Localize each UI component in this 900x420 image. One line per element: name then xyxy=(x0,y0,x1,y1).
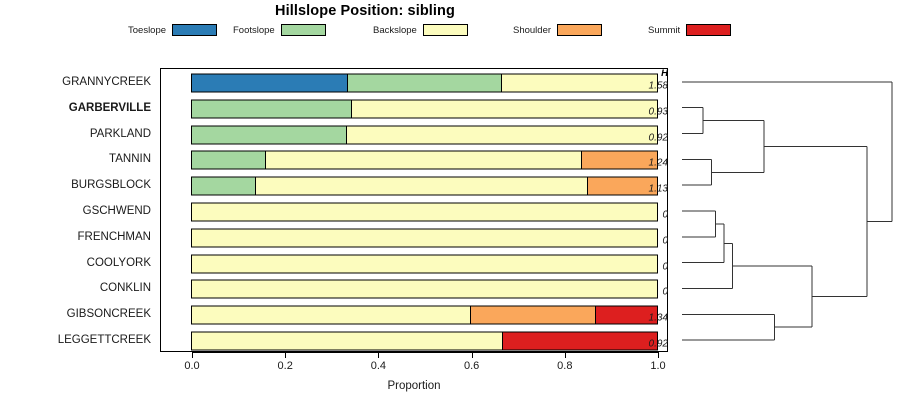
dendrogram xyxy=(670,60,900,360)
h-value-leggettcreek: 0.92 xyxy=(636,339,668,350)
bar-segment-footslope xyxy=(191,177,257,196)
y-axis-label-gibsoncreek: GIBSONCREEK xyxy=(67,308,151,320)
y-axis-label-parkland: PARKLAND xyxy=(90,128,151,140)
bar-segment-shoulder xyxy=(470,306,596,325)
bar-segment-backslope xyxy=(501,73,658,92)
legend-label-shoulder: Shoulder xyxy=(513,25,551,36)
x-axis-tick xyxy=(565,352,566,358)
bar-segment-footslope xyxy=(191,151,267,170)
legend-label-toeslope: Toeslope xyxy=(128,25,166,36)
legend-label-summit: Summit xyxy=(648,25,680,36)
legend-item-footslope: Footslope xyxy=(233,22,326,38)
bar-segment-backslope xyxy=(191,332,503,351)
x-axis-tick-label: 0.6 xyxy=(464,360,479,372)
bar-segment-backslope xyxy=(265,151,582,170)
x-axis-tick-label: 0.4 xyxy=(371,360,386,372)
legend: ToeslopeFootslopeBackslopeShoulderSummit xyxy=(128,22,728,38)
bar-segment-backslope xyxy=(191,203,658,222)
y-axis-label-frenchman: FRENCHMAN xyxy=(78,231,151,243)
y-axis-label-coolyork: COOLYORK xyxy=(87,257,151,269)
legend-item-backslope: Backslope xyxy=(373,22,468,38)
y-axis-label-burgsblock: BURGSBLOCK xyxy=(71,179,151,191)
bar-segment-backslope xyxy=(191,254,658,273)
x-axis-tick xyxy=(285,352,286,358)
y-axis-label-leggettcreek: LEGGETTCREEK xyxy=(58,334,151,346)
y-axis-label-conklin: CONKLIN xyxy=(100,282,151,294)
x-axis-tick xyxy=(192,352,193,358)
h-value-parkland: 0.92 xyxy=(636,132,668,143)
h-value-grannycreek: 1.58 xyxy=(636,80,668,91)
h-value-burgsblock: 1.13 xyxy=(636,184,668,195)
h-value-gschwend: 0 xyxy=(636,210,668,221)
chart-root: Hillslope Position: sibling ToeslopeFoot… xyxy=(0,0,900,420)
bar-segment-summit xyxy=(502,332,658,351)
h-value-frenchman: 0 xyxy=(636,235,668,246)
bar-segment-backslope xyxy=(346,125,658,144)
y-axis-label-grannycreek: GRANNYCREEK xyxy=(62,76,151,88)
bar-segment-footslope xyxy=(347,73,502,92)
y-axis-labels: GRANNYCREEKGARBERVILLEPARKLANDTANNINBURG… xyxy=(0,68,155,352)
bar-segment-backslope xyxy=(351,99,658,118)
legend-swatch-shoulder xyxy=(557,24,602,36)
table-row xyxy=(192,125,658,144)
stacked-bars xyxy=(161,69,669,353)
table-row xyxy=(192,73,658,92)
legend-swatch-toeslope xyxy=(172,24,217,36)
h-column: H 1.580.930.921.241.1300001.340.92 xyxy=(636,68,668,352)
h-value-conklin: 0 xyxy=(636,287,668,298)
y-axis-label-garberville: GARBERVILLE xyxy=(69,102,151,114)
bar-segment-backslope xyxy=(191,306,472,325)
table-row xyxy=(192,306,658,325)
legend-label-backslope: Backslope xyxy=(373,25,417,36)
plot-panel xyxy=(160,68,668,352)
table-row xyxy=(192,280,658,299)
x-axis-title: Proportion xyxy=(160,380,668,392)
h-column-header: H xyxy=(636,68,668,79)
x-axis-tick-label: 1.0 xyxy=(650,360,665,372)
bar-segment-backslope xyxy=(191,280,658,299)
x-axis-tick xyxy=(658,352,659,358)
legend-swatch-summit xyxy=(686,24,731,36)
x-axis-tick xyxy=(472,352,473,358)
bar-segment-toeslope xyxy=(191,73,348,92)
legend-swatch-backslope xyxy=(423,24,468,36)
h-value-gibsoncreek: 1.34 xyxy=(636,313,668,324)
page-title: Hillslope Position: sibling xyxy=(0,3,730,19)
table-row xyxy=(192,228,658,247)
bar-segment-footslope xyxy=(191,99,353,118)
table-row xyxy=(192,332,658,351)
h-value-tannin: 1.24 xyxy=(636,158,668,169)
bar-segment-footslope xyxy=(191,125,347,144)
y-axis-label-gschwend: GSCHWEND xyxy=(83,205,151,217)
legend-item-summit: Summit xyxy=(648,22,731,38)
table-row xyxy=(192,151,658,170)
legend-item-toeslope: Toeslope xyxy=(128,22,217,38)
legend-swatch-footslope xyxy=(281,24,326,36)
table-row xyxy=(192,254,658,273)
x-axis-tick xyxy=(378,352,379,358)
table-row xyxy=(192,177,658,196)
y-axis-label-tannin: TANNIN xyxy=(109,153,151,165)
table-row xyxy=(192,99,658,118)
x-axis-tick-label: 0.8 xyxy=(557,360,572,372)
x-axis-tick-label: 0.0 xyxy=(184,360,199,372)
h-value-garberville: 0.93 xyxy=(636,106,668,117)
h-value-coolyork: 0 xyxy=(636,261,668,272)
bar-segment-backslope xyxy=(255,177,589,196)
legend-label-footslope: Footslope xyxy=(233,25,275,36)
x-axis-tick-label: 0.2 xyxy=(278,360,293,372)
legend-item-shoulder: Shoulder xyxy=(513,22,602,38)
bar-segment-backslope xyxy=(191,228,658,247)
table-row xyxy=(192,203,658,222)
